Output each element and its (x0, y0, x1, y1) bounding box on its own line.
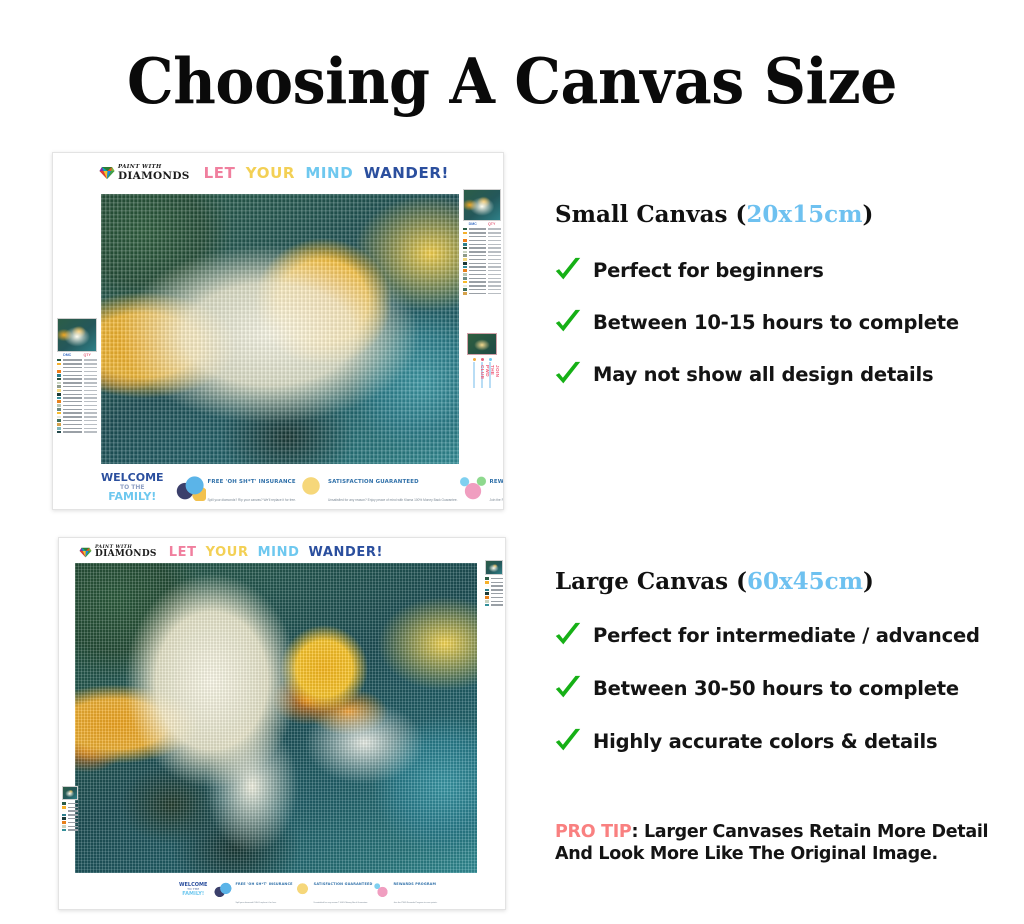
brand-name-small: PAINT WITH DIAMONDS (118, 165, 190, 181)
tagline-large: LET YOUR MIND WANDER! (169, 545, 383, 560)
color-legend-flap-right-large (485, 560, 503, 607)
legend-row (463, 265, 501, 268)
legend-row (485, 588, 503, 591)
legend-row (485, 596, 503, 599)
pro-tip-note: PRO TIP: Larger Canvases Retain More Det… (555, 821, 1015, 866)
diamond-logo-icon (79, 547, 92, 558)
badge-rewards-program: REWARDS PROGRAM Join the PWD Rewards Pro… (373, 872, 438, 908)
legend-row (485, 581, 503, 584)
badge-text: REWARDS PROGRAM Join the PWD Rewards Pro… (490, 470, 504, 506)
legend-row (485, 600, 503, 603)
trust-badges-small: WELCOME TO THE FAMILY! FREE 'OH SH*T' IN… (101, 471, 459, 505)
badge-text: SATISFACTION GUARANTEED Unsatisfied for … (314, 872, 373, 908)
legend-row (57, 415, 97, 418)
legend-row (57, 381, 97, 384)
legend-row (57, 366, 97, 369)
legend-row (463, 273, 501, 276)
feature-label: Between 10-15 hours to complete (593, 311, 959, 334)
badge-satisfaction-guaranteed: SATISFACTION GUARANTEED Unsatisfied for … (293, 872, 373, 908)
tagline-small: LET YOUR MIND WANDER! (204, 164, 449, 182)
legend-row (57, 396, 97, 399)
color-legend-flap-left-large (62, 786, 78, 832)
trust-badges-large: WELCOME TO THE FAMILY! FREE 'OH SH*T' IN… (179, 879, 429, 901)
legend-row (463, 288, 501, 291)
legend-row (57, 374, 97, 377)
legend-row (463, 243, 501, 246)
legend-row (57, 378, 97, 381)
legend-row (62, 817, 78, 820)
legend-row (485, 603, 503, 606)
legend-row (463, 247, 501, 250)
canvas-thumbnail-large-left (62, 786, 78, 800)
welcome-to-family-badge: WELCOME TO THE FAMILY! (101, 472, 164, 504)
legend-row (57, 427, 97, 430)
badge-satisfaction-guaranteed: SATISFACTION GUARANTEED Unsatisfied for … (296, 470, 458, 506)
feature-label: Perfect for intermediate / advanced (593, 624, 980, 647)
legend-row (57, 389, 97, 392)
legend-row (463, 231, 501, 234)
legend-row (463, 269, 501, 272)
legend-row (463, 284, 501, 287)
legend-row (463, 239, 501, 242)
badge-text: FREE 'OH SH*T' INSURANCE Spill your diam… (235, 872, 292, 908)
color-legend-flap-right-small: DMC QTY (463, 189, 501, 295)
diamond-logo-icon (99, 166, 115, 180)
legend-row (62, 802, 78, 805)
large-canvas-heading: Large Canvas (60x45cm) (555, 568, 874, 595)
large-canvas-size: 60x45cm (747, 568, 863, 595)
legend-row (463, 250, 501, 253)
legend-row (62, 828, 78, 831)
legend-row (485, 592, 503, 595)
legend-row (57, 412, 97, 415)
check-icon (553, 673, 583, 703)
check-icon (553, 726, 583, 756)
badge-text: FREE 'OH SH*T' INSURANCE Spill your diam… (208, 470, 296, 506)
legend-row (485, 577, 503, 580)
page-title: Choosing A Canvas Size (36, 44, 988, 118)
club-thumbnail-icon (467, 333, 497, 355)
brand-header-small: PAINT WITH DIAMONDS LET YOUR MIND WANDER… (99, 164, 449, 182)
dmc-legend-table-small-left: DMC QTY (57, 354, 97, 434)
badge-text: SATISFACTION GUARANTEED Unsatisfied for … (328, 470, 458, 506)
canvas-thumbnail-large-right (485, 560, 503, 575)
feature-label: Highly accurate colors & details (593, 730, 937, 753)
pro-tip-label: PRO TIP (555, 822, 631, 842)
legend-row (57, 359, 97, 362)
feature-label: Between 30-50 hours to complete (593, 677, 959, 700)
legend-row (463, 235, 501, 238)
legend-row (463, 277, 501, 280)
badge-free-insurance: FREE 'OH SH*T' INSURANCE Spill your diam… (176, 470, 296, 506)
small-canvas-heading: Small Canvas (20x15cm) (555, 201, 873, 228)
canvas-artwork-small (101, 194, 459, 464)
legend-row (463, 281, 501, 284)
large-canvas-product-image: PAINT WITH DIAMONDS LET YOUR MIND WANDER… (58, 537, 506, 910)
legend-row (57, 400, 97, 403)
legend-row (62, 813, 78, 816)
feature-label: May not show all design details (593, 363, 933, 386)
bead-texture-large (75, 563, 477, 873)
legend-row (57, 362, 97, 365)
legend-row (57, 393, 97, 396)
check-icon (553, 255, 583, 285)
legend-row (463, 292, 501, 295)
confetti-gem-icon (373, 882, 392, 898)
infographic-page: Choosing A Canvas Size PAINT WITH DIAMON… (0, 0, 1024, 924)
feature-small-2: May not show all design details (553, 359, 933, 389)
canvas-thumbnail-small-right (463, 189, 501, 221)
legend-row (463, 254, 501, 257)
badge-free-insurance: FREE 'OH SH*T' INSURANCE Spill your diam… (214, 872, 292, 908)
check-icon (553, 620, 583, 650)
certificate-icon (296, 475, 326, 501)
dmc-legend-table-large-right (485, 577, 503, 607)
dmc-legend-table-large-left (62, 802, 78, 832)
legend-row (62, 810, 78, 813)
club-col (471, 358, 477, 388)
legend-row (485, 585, 503, 588)
badge-text: REWARDS PROGRAM Join the PWD Rewards Pro… (394, 872, 438, 908)
canvas-artwork-large (75, 563, 477, 873)
brand-name-large: PAINT WITH DIAMONDS (95, 546, 157, 560)
check-icon (553, 307, 583, 337)
legend-row (57, 385, 97, 388)
brand-header-large: PAINT WITH DIAMONDS LET YOUR MIND WANDER… (79, 545, 383, 560)
legend-row (57, 430, 97, 433)
spill-paint-icon (176, 475, 206, 501)
legend-row (57, 404, 97, 407)
pro-tip-separator: : (631, 822, 644, 842)
legend-row (57, 423, 97, 426)
legend-row (62, 806, 78, 809)
bead-texture-small (101, 194, 459, 464)
legend-header: DMC QTY (463, 223, 501, 227)
badge-rewards-program: REWARDS PROGRAM Join the PWD Rewards Pro… (458, 470, 504, 506)
color-legend-flap-left-small: DMC QTY (57, 318, 97, 434)
feature-large-0: Perfect for intermediate / advanced (553, 620, 980, 650)
legend-header: DMC QTY (57, 354, 97, 358)
feature-small-0: Perfect for beginners (553, 255, 824, 285)
join-club-label: JOIN THE PWD CLUB (480, 365, 500, 388)
legend-row (57, 370, 97, 373)
small-canvas-product-image: PAINT WITH DIAMONDS LET YOUR MIND WANDER… (52, 152, 504, 510)
feature-large-1: Between 30-50 hours to complete (553, 673, 959, 703)
canvas-thumbnail-small-left (57, 318, 97, 352)
feature-label: Perfect for beginners (593, 259, 824, 282)
check-icon (553, 359, 583, 389)
feature-large-2: Highly accurate colors & details (553, 726, 937, 756)
pwd-club-block-small: JOIN THE PWD CLUB (463, 333, 501, 388)
certificate-icon (293, 882, 312, 898)
spill-paint-icon (214, 882, 233, 898)
legend-row (57, 419, 97, 422)
legend-row (62, 825, 78, 828)
legend-row (62, 821, 78, 824)
legend-row (463, 258, 501, 261)
legend-row (463, 262, 501, 265)
small-canvas-size: 20x15cm (746, 201, 862, 228)
legend-row (463, 228, 501, 231)
welcome-to-family-badge: WELCOME TO THE FAMILY! (179, 883, 207, 898)
legend-row (57, 408, 97, 411)
confetti-gem-icon (458, 475, 488, 501)
feature-small-1: Between 10-15 hours to complete (553, 307, 959, 337)
dmc-legend-table-small-right: DMC QTY (463, 223, 501, 295)
